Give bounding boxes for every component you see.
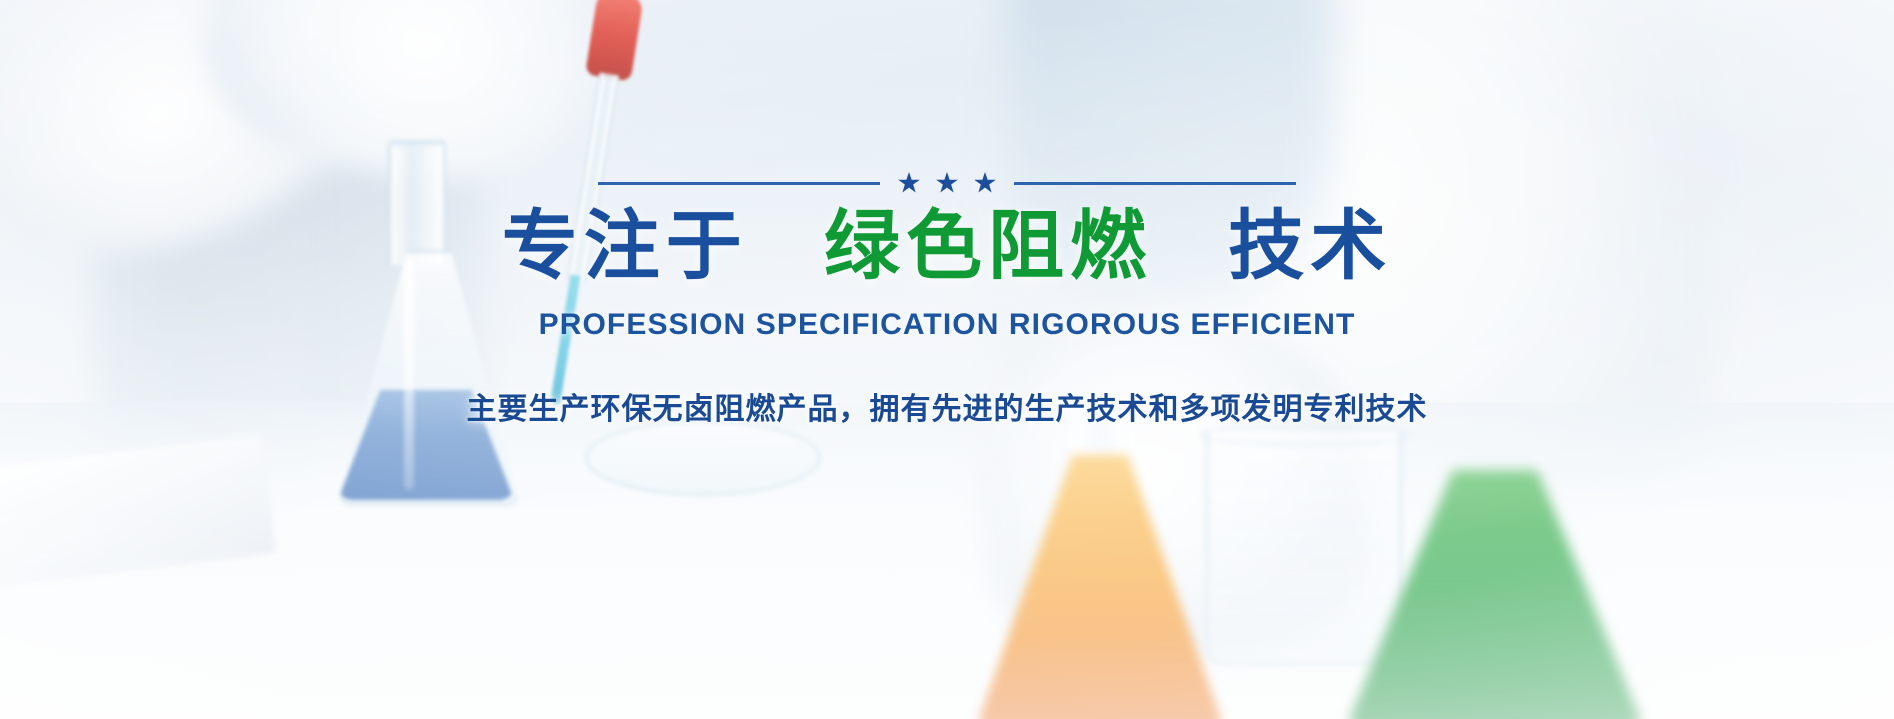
- hero-banner: 专注于 绿色阻燃 技术 PROFESSION SPECIFICATION RIG…: [0, 0, 1894, 719]
- star-icon: [898, 172, 920, 194]
- banner-content: 专注于 绿色阻燃 技术 PROFESSION SPECIFICATION RIG…: [0, 0, 1894, 719]
- headline-segment-focus: 专注于: [502, 204, 748, 289]
- star-group: [894, 172, 1000, 194]
- headline-segment-technology: 技术: [1228, 204, 1392, 289]
- banner-headline: 专注于 绿色阻燃 技术: [502, 208, 1393, 286]
- divider-rule-right: [1014, 182, 1296, 185]
- headline-segment-green-flame-retardant: 绿色阻燃: [824, 204, 1152, 289]
- star-icon: [936, 172, 958, 194]
- star-divider: [577, 172, 1317, 194]
- banner-tagline-chinese: 主要生产环保无卤阻燃产品，拥有先进的生产技术和多项发明专利技术: [467, 384, 1428, 428]
- star-icon: [974, 172, 996, 194]
- banner-subtitle-english: PROFESSION SPECIFICATION RIGOROUS EFFICI…: [539, 308, 1356, 342]
- divider-rule-left: [598, 182, 880, 185]
